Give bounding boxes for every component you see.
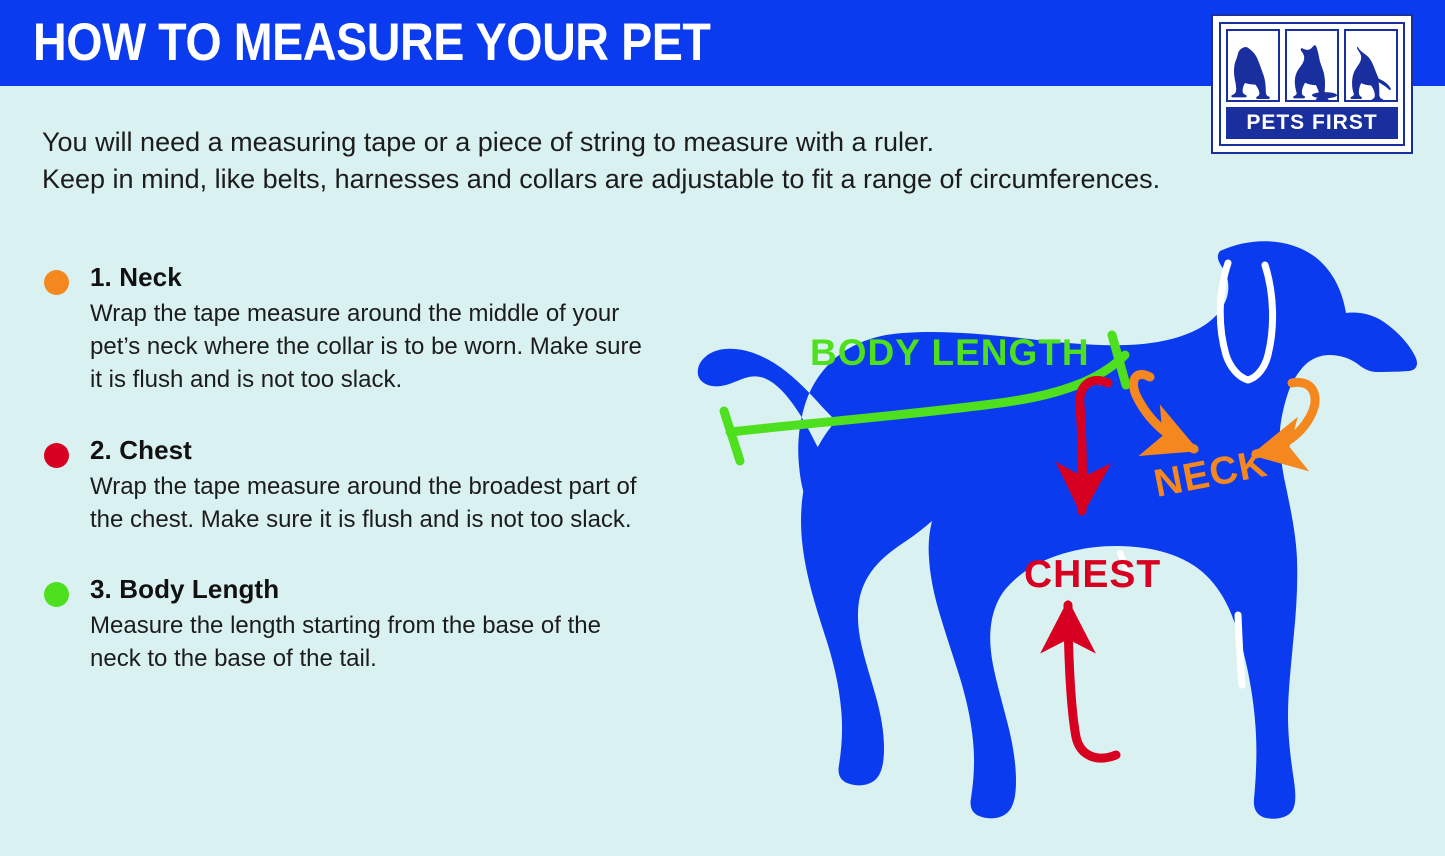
sitting-dog-silhouette-icon bbox=[1226, 29, 1280, 102]
howling-dog-silhouette-icon bbox=[1285, 29, 1339, 102]
step-chest: 2. Chest Wrap the tape measure around th… bbox=[40, 435, 650, 537]
chest-label: CHEST bbox=[1024, 553, 1161, 596]
step-body-length-body: Measure the length starting from the bas… bbox=[90, 610, 650, 676]
step-chest-title: 2. Chest bbox=[90, 435, 650, 466]
neck-bullet-icon bbox=[44, 270, 69, 295]
intro-text: You will need a measuring tape or a piec… bbox=[42, 124, 1282, 199]
step-neck-body: Wrap the tape measure around the middle … bbox=[90, 298, 650, 397]
step-neck-title: 1. Neck bbox=[90, 262, 650, 293]
front-leg-outline bbox=[1238, 615, 1242, 685]
chest-bullet-icon bbox=[44, 443, 69, 468]
page-title: HOW TO MEASURE YOUR PET bbox=[33, 16, 710, 69]
measurement-steps-list: 1. Neck Wrap the tape measure around the… bbox=[40, 262, 650, 714]
body-length-label: BODY LENGTH bbox=[810, 332, 1090, 373]
logo-silhouette-row bbox=[1226, 29, 1398, 102]
standing-dog-silhouette-icon bbox=[1344, 29, 1398, 102]
step-body-length: 3. Body Length Measure the length starti… bbox=[40, 574, 650, 676]
intro-line-2: Keep in mind, like belts, harnesses and … bbox=[42, 161, 1282, 198]
intro-line-1: You will need a measuring tape or a piec… bbox=[42, 124, 1282, 161]
dog-silhouette bbox=[698, 241, 1417, 818]
step-body-length-title: 3. Body Length bbox=[90, 574, 650, 605]
step-chest-body: Wrap the tape measure around the broades… bbox=[90, 471, 650, 537]
body-length-bullet-icon bbox=[44, 582, 69, 607]
step-neck: 1. Neck Wrap the tape measure around the… bbox=[40, 262, 650, 397]
dog-measurement-diagram: BODY LENGTH NECK CHEST bbox=[620, 215, 1445, 855]
